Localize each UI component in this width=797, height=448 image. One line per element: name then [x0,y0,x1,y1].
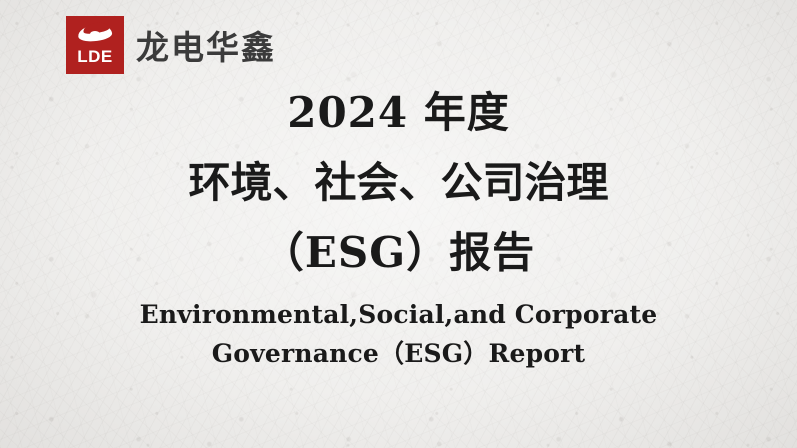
report-title-cn-line3: （ESG）报告 [0,232,797,274]
report-title-en-line1: Environmental,Social,and Corporate [0,296,797,335]
company-logo: LDE 龙电华鑫 [66,16,276,74]
company-name-cn: 龙电华鑫 [136,21,276,69]
cover-title-area: 2024 年度 环境、社会、公司治理 （ESG）报告 Environmental… [0,92,797,374]
report-year-title: 2024 年度 [0,92,797,134]
report-title-en-line2: Governance（ESG）Report [0,335,797,374]
esg-report-cover: LDE 龙电华鑫 2024 年度 环境、社会、公司治理 （ESG）报告 Envi… [0,0,797,448]
logo-mark-icon: LDE [66,16,124,74]
logo-swoosh-icon [78,22,112,44]
logo-abbreviation: LDE [77,48,113,65]
report-title-cn-line2: 环境、社会、公司治理 [0,162,797,204]
